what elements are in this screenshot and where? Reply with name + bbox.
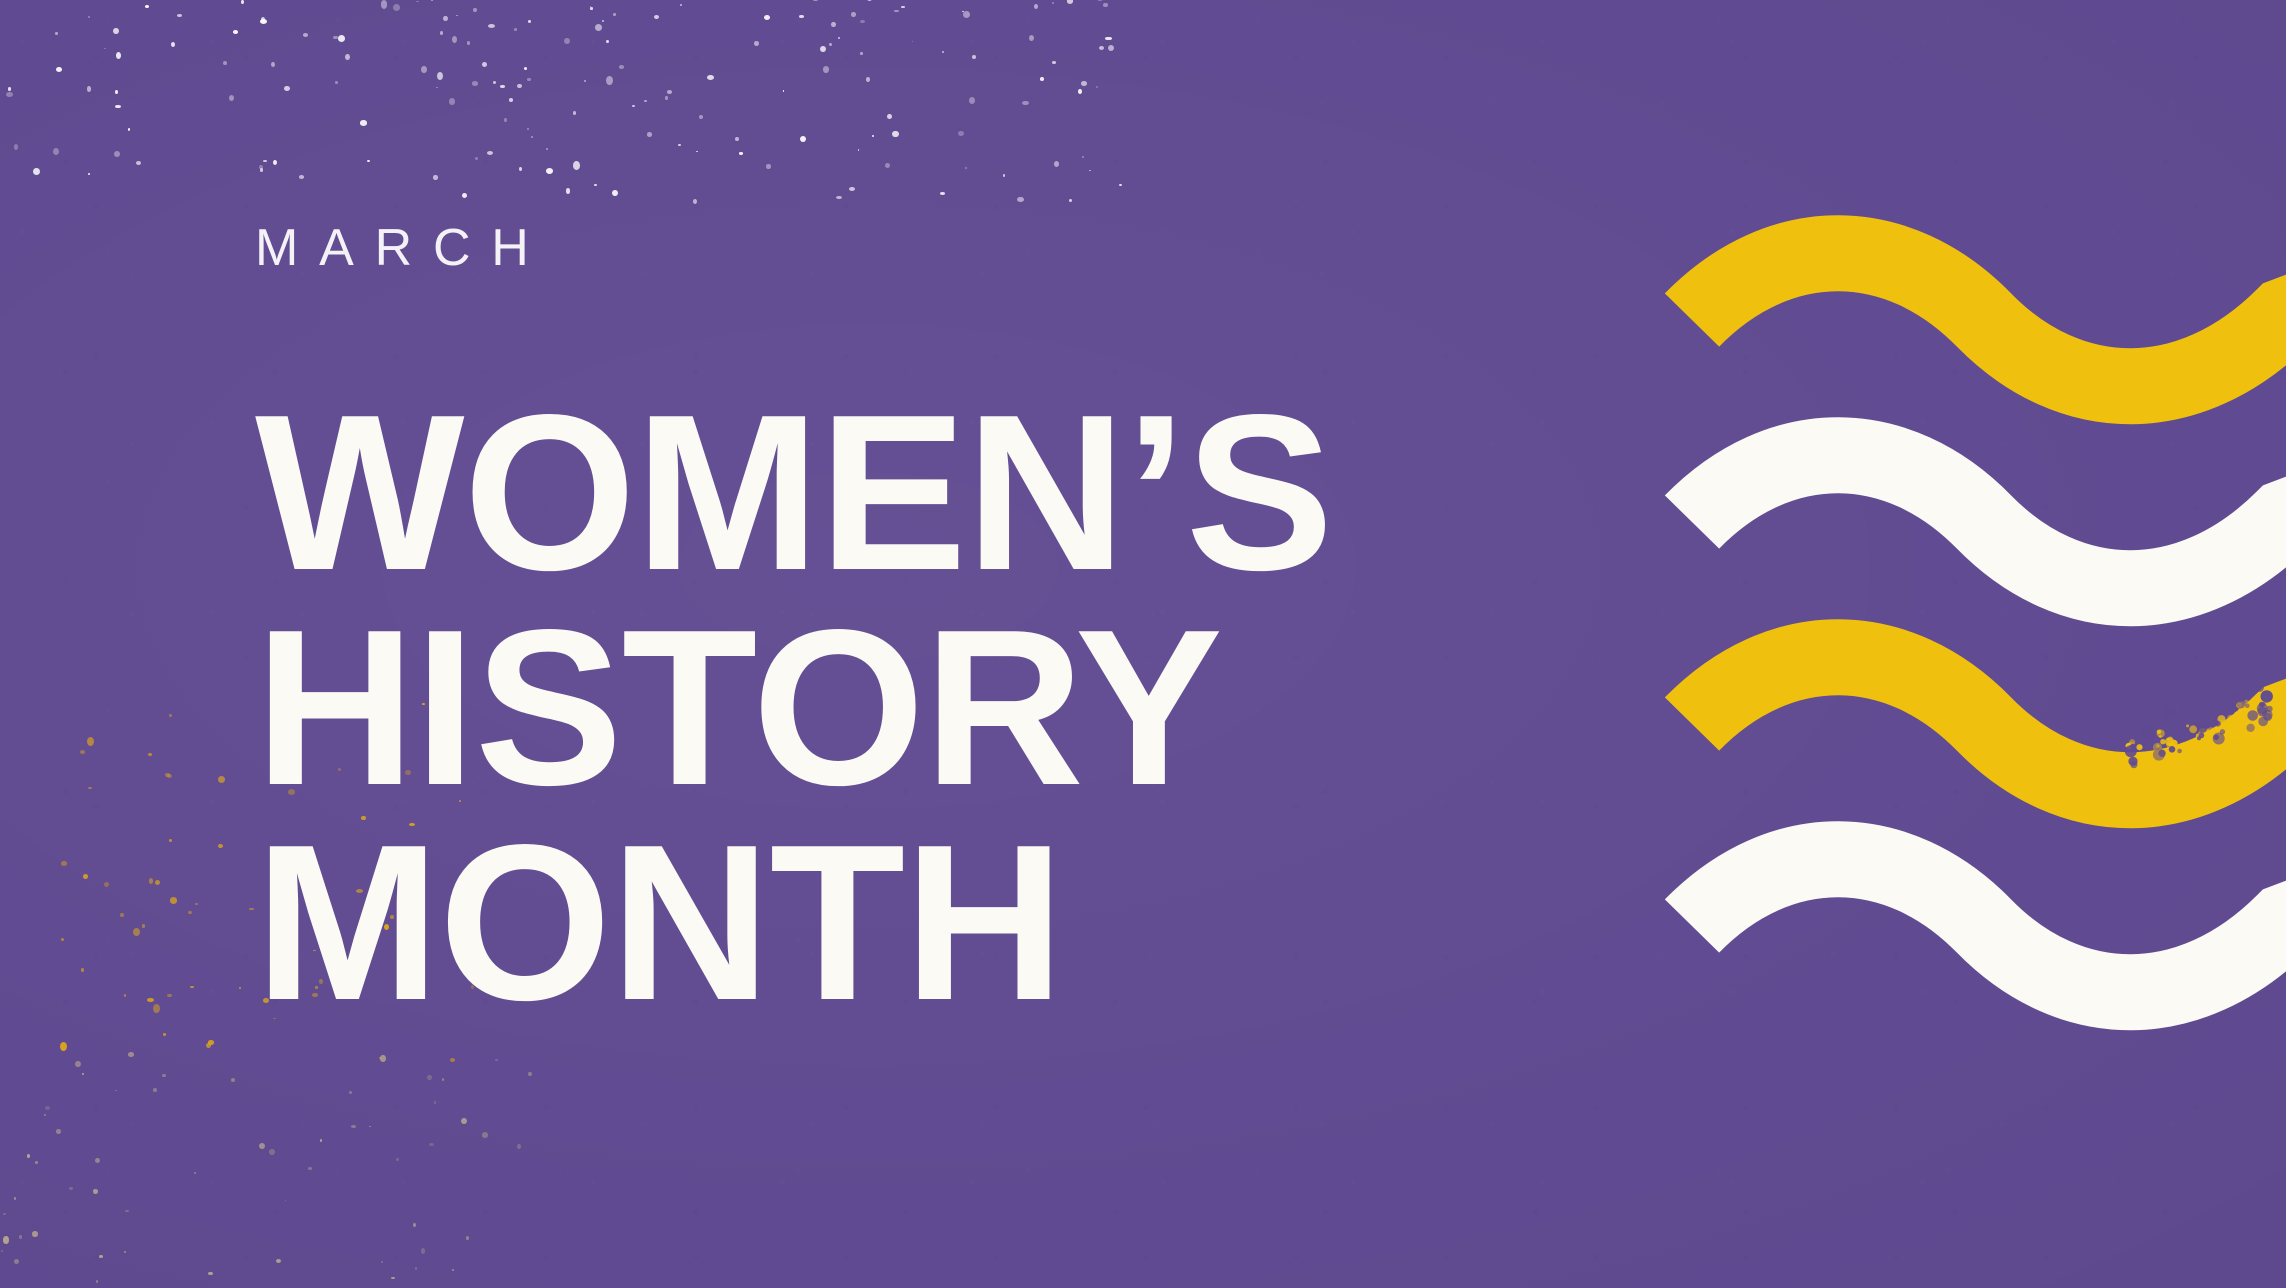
eyebrow-month-label: MARCH: [255, 222, 1505, 274]
wave-white-2: [1692, 859, 2286, 992]
banner-text-block: MARCH WOMEN’S HISTORY MONTH: [255, 222, 1505, 1031]
wave-yellow-2: [1692, 657, 2286, 790]
womens-history-month-banner: MARCH WOMEN’S HISTORY MONTH: [0, 0, 2286, 1288]
headline-line-3: MONTH: [255, 816, 1505, 1031]
headline-line-2: HISTORY: [255, 601, 1505, 816]
page-title: WOMEN’S HISTORY MONTH: [255, 386, 1505, 1031]
wave-yellow-1: [1692, 253, 2286, 386]
decorative-wave-group: [1684, 196, 2286, 1096]
headline-line-1: WOMEN’S: [255, 386, 1505, 601]
wave-white-1: [1692, 455, 2286, 588]
